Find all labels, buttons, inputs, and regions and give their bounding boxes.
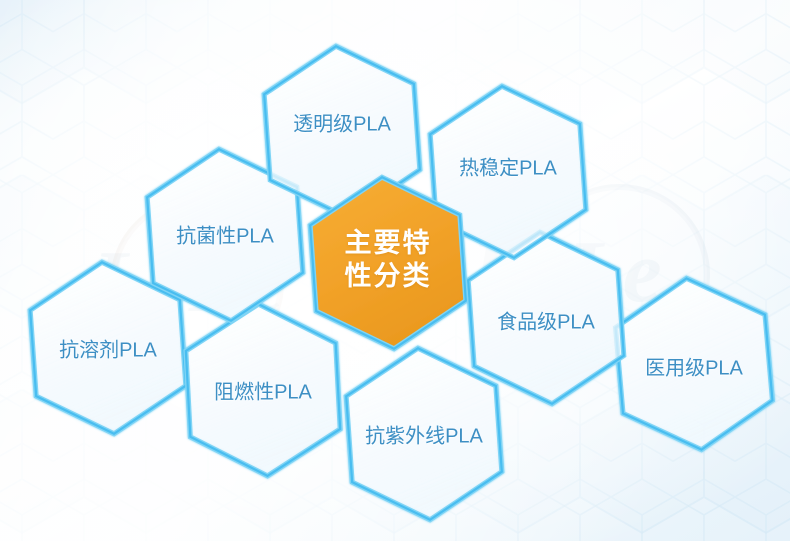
hex-node-heat-stable[interactable] — [448, 105, 568, 239]
hex-node-uv-resistant[interactable] — [364, 367, 484, 501]
diagram-canvas: LeLe LeLe — [0, 0, 790, 541]
hex-node-solvent-resistant[interactable] — [48, 281, 168, 415]
hex-node-center[interactable] — [313, 177, 463, 349]
hexagon-field — [0, 0, 790, 541]
hex-node-flame-retardant[interactable] — [203, 323, 323, 457]
hex-node-food-grade[interactable] — [486, 251, 606, 385]
hex-node-antibacterial[interactable] — [165, 168, 285, 302]
hex-node-medical-grade[interactable] — [634, 297, 754, 431]
